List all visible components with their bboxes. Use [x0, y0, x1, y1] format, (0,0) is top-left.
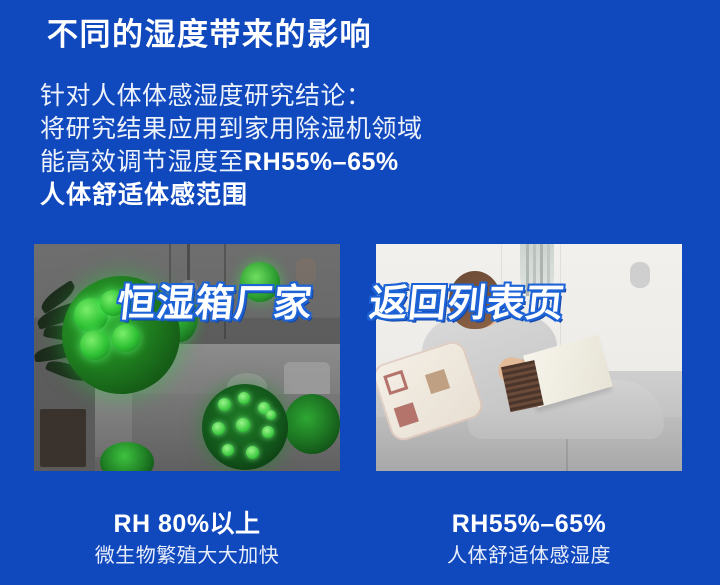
wall-fixture-icon [630, 262, 650, 288]
virus-sphere-icon [202, 384, 288, 470]
humidity-infographic: 不同的湿度带来的影响 针对人体体感湿度研究结论： 将研究结果应用到家用除湿机领域… [0, 0, 720, 585]
caption-high-humidity: RH 80%以上 微生物繁殖大大加快 [27, 508, 347, 570]
body-line-1: 针对人体体感湿度研究结论： [40, 80, 490, 113]
page-title: 不同的湿度带来的影响 [47, 16, 372, 55]
body-line-2: 将研究结果应用到家用除湿机领域 [40, 113, 490, 146]
body-line-4: 人体舒适体感范围 [40, 179, 490, 212]
caption-sub-right: 人体舒适体感湿度 [369, 542, 689, 570]
plant-pot-icon [40, 409, 86, 467]
body-line-3: 能高效调节湿度至RH55%–65% [40, 146, 490, 179]
caption-sub-left: 微生物繁殖大大加快 [27, 542, 347, 570]
caption-main-right: RH55%–65% [369, 508, 689, 540]
watermark-left: 恒湿箱厂家 [115, 272, 316, 327]
caption-comfort-humidity: RH55%–65% 人体舒适体感湿度 [369, 508, 689, 570]
caption-main-left: RH 80%以上 [27, 508, 347, 540]
body-copy: 针对人体体感湿度研究结论： 将研究结果应用到家用除湿机领域 能高效调节湿度至RH… [40, 80, 490, 212]
microbe-sphere-icon [284, 394, 340, 454]
body-line-3-range: RH55%–65% [244, 148, 399, 176]
body-line-3-prefix: 能高效调节湿度至 [40, 148, 244, 176]
watermark-right[interactable]: 返回列表页 [367, 272, 568, 327]
